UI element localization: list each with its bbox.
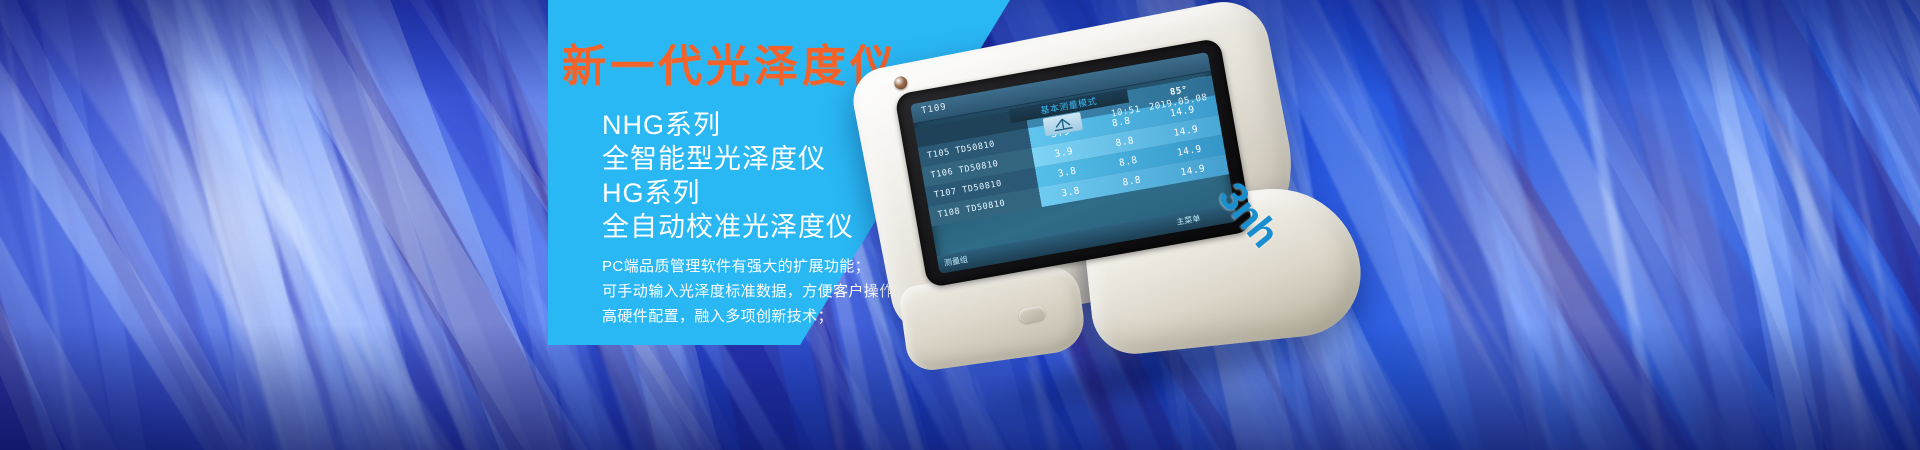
product-line-list: NHG系列 全智能型光泽度仪 HG系列 全自动校准光泽度仪: [562, 108, 854, 244]
feature-line: PC端品质管理软件有强大的扩展功能；: [602, 254, 910, 279]
footer-left-button[interactable]: 测量组: [943, 254, 969, 269]
feature-line: 可手动输入光泽度标准数据，方便客户操作；: [602, 279, 910, 304]
status-tag: T109: [921, 102, 948, 116]
feature-line: 高硬件配置，融入多项创新技术；: [602, 304, 910, 329]
gloss-meter-device: T109 20° 60° 85° T105 TD50810 3.9 8.8 1: [846, 0, 1384, 450]
product-banner: 新一代光泽度仪 NHG系列 全智能型光泽度仪 HG系列 全自动校准光泽度仪 PC…: [0, 0, 1920, 450]
footer-right-button[interactable]: 主菜单: [1176, 213, 1202, 228]
product-line: HG系列: [602, 176, 854, 210]
product-line: NHG系列: [602, 108, 854, 142]
product-line: 全智能型光泽度仪: [602, 142, 854, 176]
feature-line-list: PC端品质管理软件有强大的扩展功能； 可手动输入光泽度标准数据，方便客户操作； …: [562, 254, 910, 329]
product-line: 全自动校准光泽度仪: [602, 210, 854, 244]
device-screen: T109 20° 60° 85° T105 TD50810 3.9 8.8 1: [910, 52, 1237, 274]
